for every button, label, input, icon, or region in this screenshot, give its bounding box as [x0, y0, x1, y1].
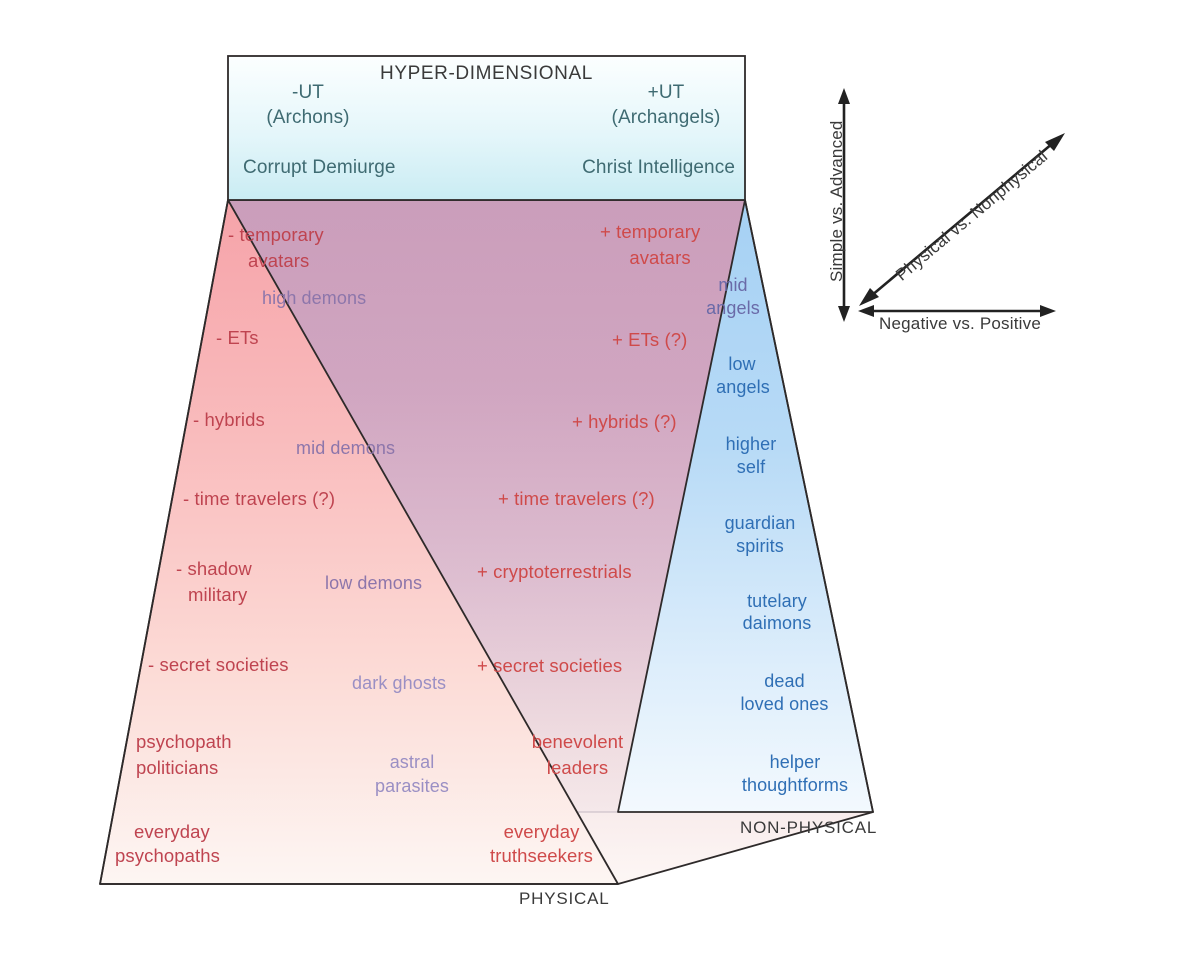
negative-item-secret-societies: - secret societies — [148, 654, 289, 676]
angel-item-helper-thoughtforms-l2: thoughtforms — [722, 775, 868, 796]
negative-item-shadow-military-l2: military — [188, 584, 247, 606]
positive-item-everyday-truthseekers-l2: truthseekers — [470, 845, 613, 867]
negative-item-psychopath-politicians-l1: psychopath — [136, 731, 232, 753]
demon-item-dark-ghosts: dark ghosts — [352, 673, 446, 694]
angel-item-higher-self-l2: self — [706, 457, 796, 478]
demon-item-mid-demons: mid demons — [296, 438, 395, 459]
negative-item-shadow-military-l1: - shadow — [176, 558, 252, 580]
angel-item-low-angels-l2: angels — [698, 377, 788, 398]
positive-item-benevolent-leaders-l2: leaders — [510, 757, 645, 779]
axis-label-vertical: Simple vs. Advanced — [827, 122, 847, 282]
angel-item-tutelary-daimons-l2: daimons — [722, 613, 832, 634]
vertical-axis-arrow-up — [838, 88, 850, 104]
axis-label-horizontal: Negative vs. Positive — [860, 314, 1060, 334]
positive-item-cryptoterrestrials: + cryptoterrestrials — [477, 561, 632, 583]
positive-item-temporary-avatars-l1: + temporary — [600, 221, 700, 243]
demon-item-low-demons: low demons — [325, 573, 422, 594]
caption-non-physical: NON-PHYSICAL — [740, 818, 877, 838]
header-left-pole: -UT — [238, 82, 378, 104]
header-left-entity: Corrupt Demiurge — [243, 157, 396, 179]
positive-item-time-travelers: + time travelers (?) — [498, 488, 655, 510]
angel-item-guardian-spirits-l1: guardian — [703, 513, 817, 534]
angel-item-dead-loved-ones-l1: dead — [727, 671, 842, 692]
demon-item-astral-parasites-l2: parasites — [360, 776, 464, 797]
angel-item-tutelary-daimons-l1: tutelary — [722, 591, 832, 612]
positive-item-ets: + ETs (?) — [612, 329, 687, 351]
negative-item-hybrids: - hybrids — [193, 409, 265, 431]
angel-item-higher-self-l1: higher — [706, 434, 796, 455]
caption-physical: PHYSICAL — [519, 889, 610, 909]
positive-item-everyday-truthseekers-l1: everyday — [470, 821, 613, 843]
negative-item-psychopath-politicians-l2: politicians — [136, 757, 218, 779]
angel-item-guardian-spirits-l2: spirits — [703, 536, 817, 557]
negative-item-everyday-psychopaths-l2: psychopaths — [115, 845, 220, 867]
angel-item-dead-loved-ones-l2: loved ones — [727, 694, 842, 715]
positive-item-secret-societies: + secret societies — [477, 655, 622, 677]
negative-item-temporary-avatars-l2: avatars — [248, 250, 309, 272]
diagram-canvas: HYPER-DIMENSIONAL -UT (Archons) +UT (Arc… — [0, 0, 1200, 970]
vertical-axis-arrow-down — [838, 306, 850, 322]
positive-item-hybrids: + hybrids (?) — [572, 411, 677, 433]
header-right-pole-sub: (Archangels) — [596, 107, 736, 129]
angel-item-mid-angels-l2: angels — [688, 298, 778, 319]
header-right-pole: +UT — [596, 82, 736, 104]
positive-item-benevolent-leaders-l1: benevolent — [510, 731, 645, 753]
angel-item-helper-thoughtforms-l1: helper — [722, 752, 868, 773]
negative-item-ets: - ETs — [216, 327, 259, 349]
negative-item-temporary-avatars-l1: - temporary — [228, 224, 324, 246]
header-left-pole-sub: (Archons) — [238, 107, 378, 129]
angel-item-low-angels-l1: low — [705, 354, 779, 375]
positive-item-temporary-avatars-l2: avatars — [598, 247, 722, 269]
axis-legend — [838, 88, 1065, 322]
negative-item-everyday-psychopaths-l1: everyday — [134, 821, 210, 843]
angel-item-mid-angels-l1: mid — [695, 275, 771, 296]
demon-item-high-demons: high demons — [262, 288, 366, 309]
header-right-entity: Christ Intelligence — [460, 157, 735, 179]
demon-item-astral-parasites-l1: astral — [360, 752, 464, 773]
negative-item-time-travelers: - time travelers (?) — [183, 488, 335, 510]
